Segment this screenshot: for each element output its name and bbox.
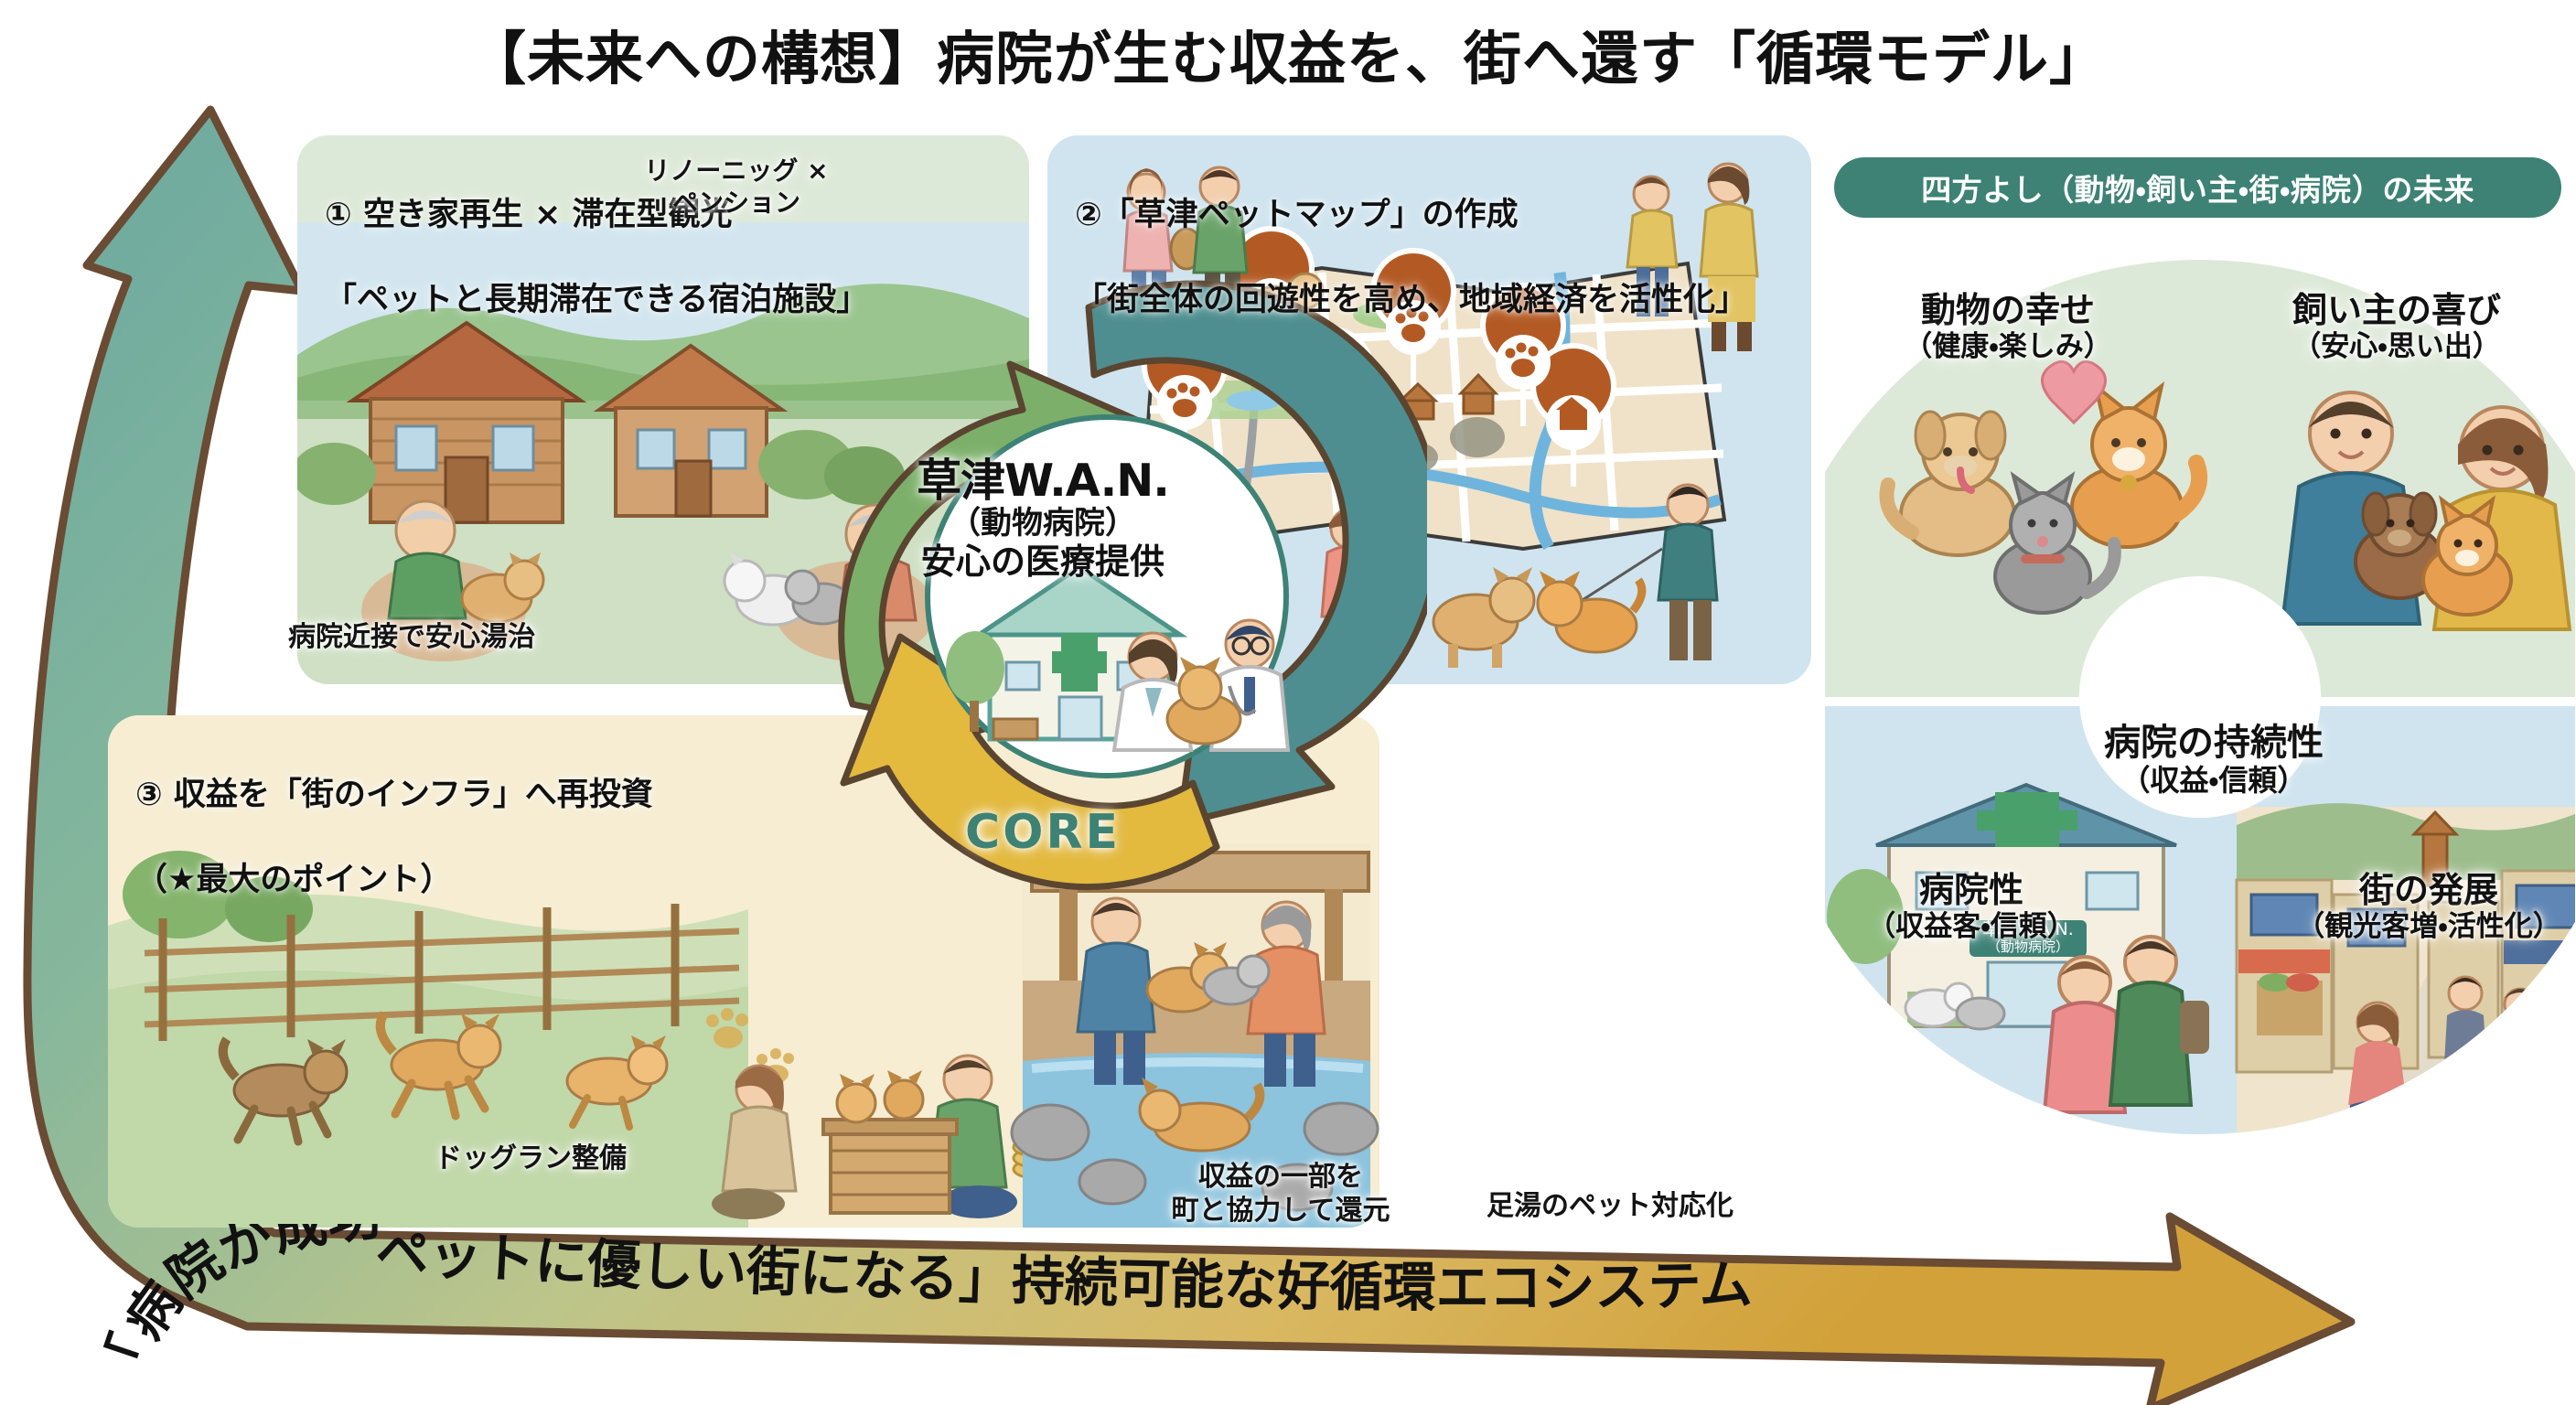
panel-reinvest-infrastructure: ③ 収益を「街のインフラ」へ再投資 （★最大のポイント） [108, 715, 1379, 1228]
core-badge: CORE [828, 805, 1258, 860]
panel-3-heading-line2: （★最大のポイント） [135, 859, 1361, 901]
quad-center-title: 病院の持続性 [2063, 723, 2365, 763]
quad-center-sub: （収益・信頼） [2063, 763, 2365, 798]
page-title: 【未来への構想】病院が生む収益を、街へ還す「循環モデル」 [0, 13, 2576, 96]
caption-revenue-return: 収益の一部を 町と協力して還元 [1125, 1160, 1436, 1228]
quadrant-banner: 四方よし（動物・飼い主・街・病院）の未来 [1834, 157, 2561, 218]
quad-title-town-growth: 街の発展 [2278, 871, 2576, 910]
core-text: 草津W.A.N. （動物病院） 安心の医療提供 [828, 457, 1258, 583]
core-line-2: （動物病院） [828, 505, 1258, 542]
quad-sub-animal-happiness: （健康・楽しみ） [1857, 330, 2159, 364]
quad-center-label: 病院の持続性 （収益・信頼） [2063, 723, 2365, 798]
quad-sub-hospital-quality: （収益客・信頼） [1834, 910, 2109, 944]
core-line-1: 草津W.A.N. [828, 457, 1258, 505]
bottom-banner: 「病院が成功すればするほど、草津がもっと ペットに優しい街になる」持続可能な好循… [0, 1224, 2576, 1398]
panel-1-heading-line2: 「ペットと長期滞在できる宿泊施設」 [325, 279, 1011, 321]
quad-sub-town-growth: （観光客増・活性化） [2278, 910, 2576, 944]
quad-label-animal-happiness: 動物の幸せ （健康・楽しみ） [1857, 291, 2159, 364]
quad-label-owner-joy: 飼い主の喜び （安心・思い出） [2241, 291, 2552, 364]
quad-sub-owner-joy: （安心・思い出） [2241, 330, 2552, 364]
quad-label-hospital-quality: 病院性 （収益客・信頼） [1834, 871, 2109, 944]
bottom-banner-green-text: 「病院が成功すればするほど、草津がもっと [0, 1224, 383, 1398]
quadrant-wheel: 草津W.A.N. （動物病院） [1825, 240, 2575, 1154]
caption-dog-run: ドッグラン整備 [366, 1142, 695, 1175]
quad-title-owner-joy: 飼い主の喜び [2241, 291, 2552, 330]
caption-footbath-pets: 足湯のペット対応化 [1427, 1189, 1793, 1223]
panel-2-heading: ②「草津ペットマップ」の作成 「街全体の回遊性を高め、地域経済を活性化」 [1075, 152, 1793, 363]
quad-title-hospital-quality: 病院性 [1834, 871, 2109, 910]
infographic-canvas: 【未来への構想】病院が生む収益を、街へ還す「循環モデル」 [0, 0, 2576, 1405]
quad-label-town-growth: 街の発展 （観光客増・活性化） [2278, 871, 2576, 944]
bottom-banner-gold-text: ペットに優しい街になる」持続可能な好循環エコシステム [374, 1224, 1753, 1319]
panel-2-heading-line2: 「街全体の回遊性を高め、地域経済を活性化」 [1075, 279, 1793, 321]
panel-2-heading-line1: ②「草津ペットマップ」の作成 [1075, 194, 1793, 236]
core-line-3: 安心の医療提供 [828, 542, 1258, 583]
caption-hospital-nearby: 病院近接で安心湯治 [215, 620, 608, 654]
caption-renovation-pension: リノーニッグ × ペンション [595, 156, 878, 219]
quad-title-animal-happiness: 動物の幸せ [1857, 291, 2159, 330]
